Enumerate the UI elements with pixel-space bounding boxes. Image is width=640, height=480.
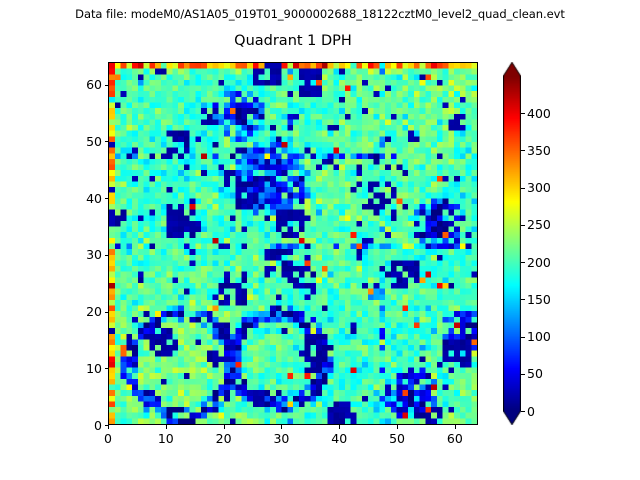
heatmap-axes [108,62,478,425]
x-tick-label: 20 [204,431,244,446]
y-tick-label: 60 [62,77,102,92]
colorbar-tick-mark [521,188,525,189]
figure-canvas: Data file: modeM0/AS1A05_019T01_90000026… [0,0,640,480]
dph-heatmap-image [109,63,477,424]
y-tick-mark [105,255,109,256]
colorbar-tick-mark [521,337,525,338]
colorbar-tick-label: 150 [527,292,573,307]
y-tick-label: 10 [62,361,102,376]
colorbar-tick-mark [521,262,525,263]
x-tick-label: 50 [377,431,417,446]
y-tick-label: 0 [62,418,102,433]
x-tick-mark [397,425,398,429]
colorbar-gradient [503,62,521,425]
colorbar-tick-label: 50 [527,366,573,381]
x-tick-label: 60 [435,431,475,446]
colorbar-tick-mark [521,299,525,300]
colorbar-tick-label: 0 [527,404,573,419]
y-tick-mark [105,312,109,313]
y-tick-label: 40 [62,191,102,206]
y-tick-label: 20 [62,304,102,319]
x-tick-mark [281,425,282,429]
x-tick-mark [224,425,225,429]
y-tick-mark [105,368,109,369]
colorbar-tick-mark [521,113,525,114]
y-tick-mark [105,198,109,199]
y-tick-mark [105,425,109,426]
y-tick-mark [105,141,109,142]
plot-title: Quadrant 1 DPH [108,32,478,50]
colorbar-tick-mark [521,374,525,375]
x-tick-label: 30 [261,431,301,446]
colorbar-tick-label: 400 [527,106,573,121]
colorbar-tick-label: 100 [527,329,573,344]
x-tick-label: 40 [319,431,359,446]
x-tick-mark [339,425,340,429]
colorbar-tick-label: 350 [527,143,573,158]
data-file-suptitle: Data file: modeM0/AS1A05_019T01_90000026… [0,7,640,21]
x-tick-label: 0 [88,431,128,446]
colorbar-tick-mark [521,411,525,412]
colorbar-tick-label: 200 [527,255,573,270]
colorbar-tick-mark [521,150,525,151]
x-tick-label: 10 [146,431,186,446]
y-tick-mark [105,85,109,86]
y-tick-label: 30 [62,247,102,262]
colorbar-tick-label: 250 [527,217,573,232]
y-tick-label: 50 [62,134,102,149]
colorbar [503,62,521,425]
colorbar-tick-label: 300 [527,180,573,195]
x-tick-mark [166,425,167,429]
x-tick-mark [108,425,109,429]
x-tick-mark [455,425,456,429]
colorbar-tick-mark [521,225,525,226]
